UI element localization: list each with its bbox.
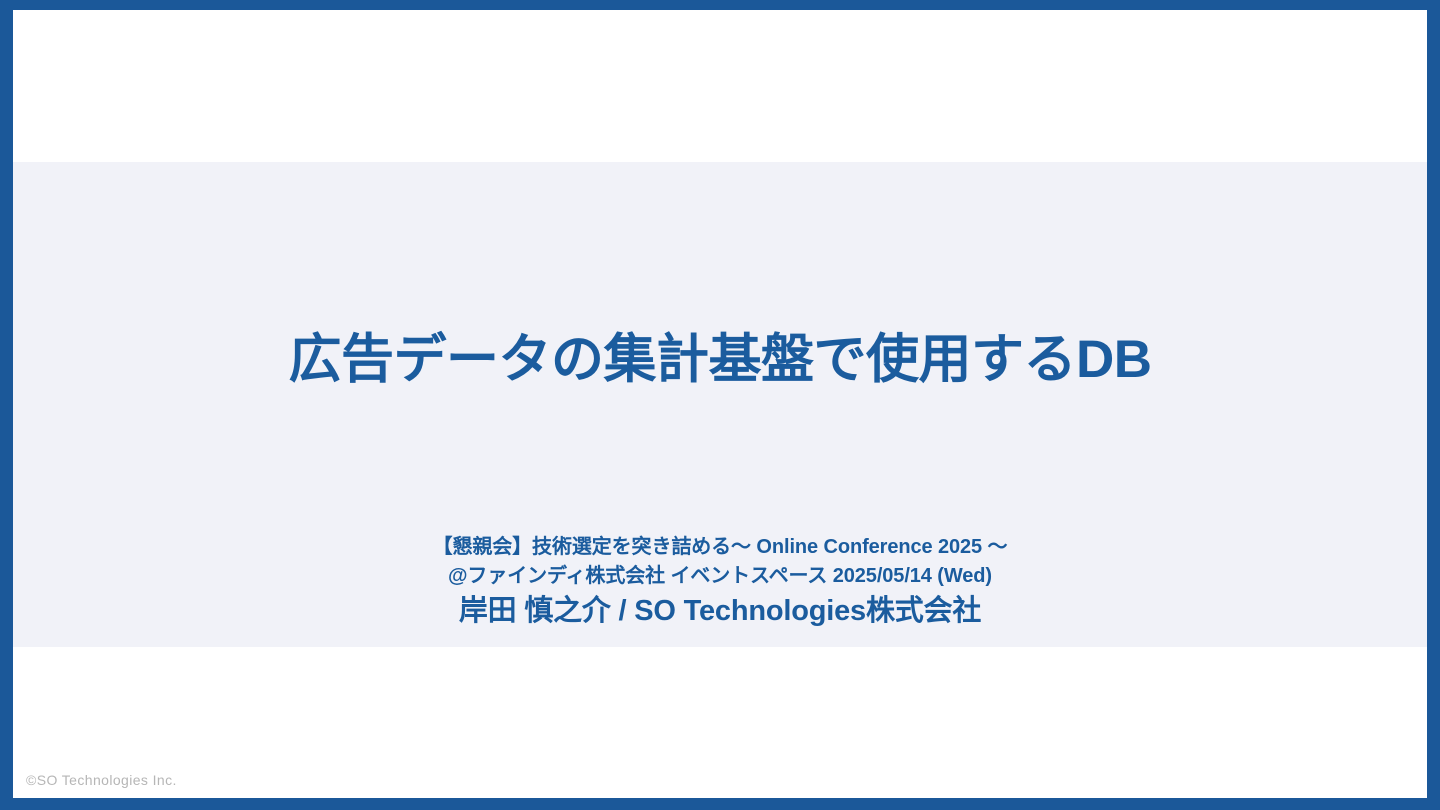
presenter-block: 岸田 慎之介 / SO Technologies株式会社 [13, 593, 1427, 629]
slide-border-top [0, 0, 1440, 10]
event-venue-date-line: @ファインディ株式会社 イベントスペース 2025/05/14 (Wed) [13, 562, 1427, 591]
copyright-footer: ©SO Technologies Inc. [26, 772, 177, 788]
title-block: 広告データの集計基盤で使用するDB [13, 330, 1427, 391]
event-info-block: 【懇親会】技術選定を突き詰める〜 Online Conference 2025 … [13, 533, 1427, 591]
event-name-line: 【懇親会】技術選定を突き詰める〜 Online Conference 2025 … [13, 533, 1427, 562]
page-title: 広告データの集計基盤で使用するDB [13, 330, 1427, 391]
presenter-name-and-company: 岸田 慎之介 / SO Technologies株式会社 [13, 593, 1427, 629]
title-slide: 広告データの集計基盤で使用するDB 【懇親会】技術選定を突き詰める〜 Onlin… [0, 0, 1440, 810]
slide-border-left [0, 0, 13, 810]
slide-border-bottom [0, 798, 1440, 810]
slide-border-right [1427, 0, 1440, 810]
